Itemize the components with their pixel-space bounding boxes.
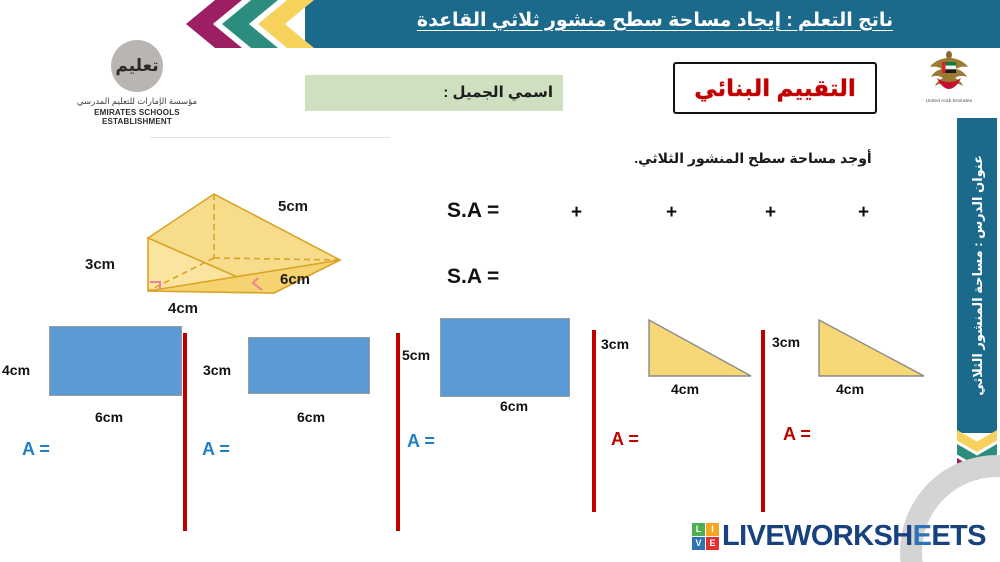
figure-rectangle-3 <box>440 318 570 397</box>
column-divider-2 <box>396 333 400 531</box>
figure-2-answer-field[interactable]: A = <box>202 439 230 460</box>
figure-triangle-2-svg <box>815 318 928 380</box>
column-divider-4 <box>761 330 765 512</box>
taleem-mark-icon: تعليم <box>111 40 163 92</box>
badge-letter-v: V <box>692 537 705 550</box>
uae-emblem: United Arab Emirates <box>920 48 978 103</box>
prism-svg <box>140 186 350 301</box>
figure-rectangle-1 <box>49 326 182 396</box>
lesson-title-label: عنوان الدرس : مساحة المنشور الثلاثي <box>970 155 985 396</box>
assessment-title-label: التقييم البنائي <box>675 64 875 112</box>
figure-triangle-1 <box>645 318 755 380</box>
badge-letter-e: E <box>706 537 719 550</box>
figure-5-answer-field[interactable]: A = <box>783 424 811 445</box>
surface-area-line-1: S.A = <box>447 199 499 223</box>
badge-letter-i: I <box>706 523 719 536</box>
liveworksheets-wordmark: LIVEWORKSHEETS <box>722 522 986 551</box>
falcon-emblem-icon <box>927 48 971 92</box>
wordmark-part-1: LIVEWORKSH <box>722 520 913 552</box>
figure-1-width-label: 6cm <box>95 409 123 425</box>
figure-3-answer-field[interactable]: A = <box>407 431 435 452</box>
liveworksheets-logo: L I V E LIVEWORKSHEETS <box>692 521 986 551</box>
figure-4-width-label: 4cm <box>671 381 699 397</box>
figure-5-width-label: 4cm <box>836 381 864 397</box>
wordmark-part-3: ETS <box>931 520 986 552</box>
ese-logo-english: EMIRATES SCHOOLS ESTABLISHMENT <box>62 108 212 126</box>
figure-2-width-label: 6cm <box>297 409 325 425</box>
worksheet-page: ناتج التعلم : إيجاد مساحة سطح منشور ثلاث… <box>0 0 1000 562</box>
figure-5-height-label: 3cm <box>772 334 800 350</box>
assessment-title-box: التقييم البنائي <box>673 62 877 114</box>
plus-sign-2: + <box>666 202 677 224</box>
prism-length-label: 6cm <box>280 271 310 288</box>
figure-rectangle-2 <box>248 337 370 394</box>
plus-sign-1: + <box>571 202 582 224</box>
prism-slant-label: 5cm <box>278 198 308 215</box>
figure-3-height-label: 5cm <box>402 347 430 363</box>
figure-triangle-1-svg <box>645 318 755 380</box>
lesson-sidebar-text: عنوان الدرس : مساحة المنشور الثلاثي <box>957 118 997 433</box>
student-name-label: اسمي الجميل : <box>443 75 553 111</box>
figure-3-width-label: 6cm <box>500 398 528 414</box>
ese-logo-arabic: مؤسسة الإمارات للتعليم المدرسي <box>62 96 212 107</box>
liveworksheets-badge-icon: L I V E <box>692 523 719 550</box>
wordmark-part-2: E <box>913 520 932 552</box>
taleem-mark-label: تعليم <box>111 40 163 92</box>
badge-letter-l: L <box>692 523 705 536</box>
figure-1-answer-field[interactable]: A = <box>22 439 50 460</box>
uae-emblem-caption: United Arab Emirates <box>920 98 978 103</box>
page-title: ناتج التعلم : إيجاد مساحة سطح منشور ثلاث… <box>330 5 980 43</box>
plus-sign-3: + <box>765 202 776 224</box>
triangular-prism-diagram <box>140 186 350 301</box>
column-divider-3 <box>592 330 596 512</box>
figure-1-height-label: 4cm <box>2 362 30 378</box>
header-chevron-yellow <box>258 0 314 48</box>
student-name-field[interactable]: اسمي الجميل : <box>305 75 563 111</box>
figure-triangle-2 <box>815 318 928 380</box>
header-divider-line <box>150 137 390 138</box>
column-divider-1 <box>183 333 187 531</box>
plus-sign-4: + <box>858 202 869 224</box>
prism-base-label: 4cm <box>168 300 198 317</box>
figure-4-height-label: 3cm <box>601 336 629 352</box>
surface-area-line-2: S.A = <box>447 265 499 289</box>
figure-2-height-label: 3cm <box>203 362 231 378</box>
ese-logo: تعليم مؤسسة الإمارات للتعليم المدرسي EMI… <box>62 40 212 126</box>
figure-4-answer-field[interactable]: A = <box>611 429 639 450</box>
prism-height-label: 3cm <box>85 256 115 273</box>
instruction-text: أوجد مساحة سطح المنشور الثلاثي. <box>588 150 918 167</box>
